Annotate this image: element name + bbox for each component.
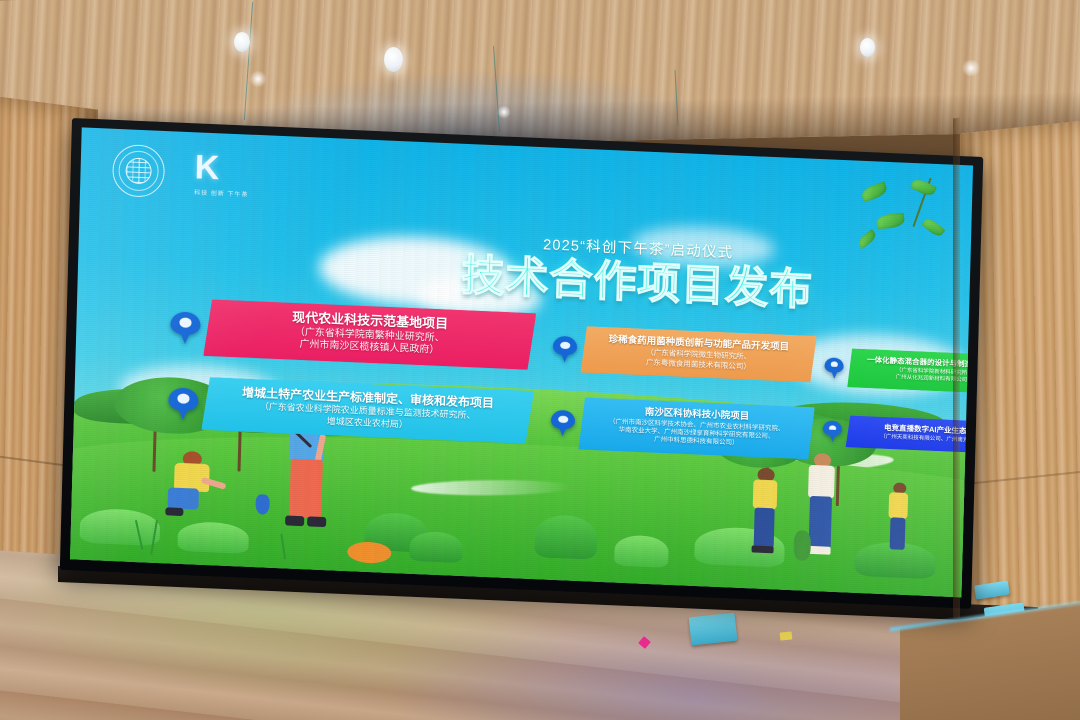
project-ribbon[interactable]: 现代农业科技示范基地项目（广东省科学院南繁种业研究所、广州市南沙区榄核镇人民政府… [203, 299, 536, 370]
screen-bezel: ✦ ✦ ✦ [60, 118, 984, 609]
led-display-surface: ✦ ✦ ✦ [70, 127, 973, 597]
project-card[interactable]: 南沙区科协科技小院项目（广州市南沙区科学技术协会、广州市农业农村科学研究院、华南… [550, 396, 814, 459]
ceiling-downlight-3 [860, 38, 875, 57]
floor-marker-card-1 [689, 613, 738, 646]
map-pin-icon [551, 410, 576, 435]
map-pin-icon [825, 357, 844, 377]
project-ribbon[interactable]: 珍稀食药用菌种质创新与功能产品开发项目（广东省科学院微生物研究所、广东粤微食用菌… [581, 326, 817, 382]
led-video-wall[interactable]: ✦ ✦ ✦ [60, 118, 984, 609]
project-card[interactable]: 现代农业科技示范基地项目（广东省科学院南繁种业研究所、广州市南沙区榄核镇人民政府… [169, 298, 536, 371]
ceiling-downlight-2 [384, 47, 403, 72]
project-ribbon[interactable]: 南沙区科协科技小院项目（广州市南沙区科学技术协会、广州市农业农村科学研究院、华南… [578, 397, 814, 459]
map-pin-icon [553, 336, 578, 361]
project-card[interactable]: 一体化静态混合器的设计与制造技术项目（广东省科学院新材料研究所、广州从化兆润新材… [824, 347, 973, 394]
ceiling-downlight-glow-3 [960, 60, 982, 76]
project-card-group: 现代农业科技示范基地项目（广东省科学院南繁种业研究所、广州市南沙区榄核镇人民政府… [70, 127, 973, 597]
room-scene: ✦ ✦ ✦ [0, 0, 1080, 720]
project-ribbon[interactable]: 增城土特产农业生产标准制定、审核和发布项目（广东省农业科学院农业质量标准与监测技… [201, 377, 534, 444]
project-card[interactable]: 增城土特产农业生产标准制定、审核和发布项目（广东省农业科学院农业质量标准与监测技… [167, 375, 534, 444]
map-pin-icon [168, 387, 199, 418]
right-wall-corner [953, 118, 960, 619]
ceiling-downlight-1 [234, 32, 250, 52]
floor-marker-dot-yellow [780, 631, 793, 640]
map-pin-icon [170, 311, 201, 342]
map-pin-icon [823, 421, 842, 441]
ceiling-downlight-glow-2 [497, 105, 511, 119]
project-card[interactable]: 珍稀食药用菌种质创新与功能产品开发项目（广东省科学院微生物研究所、广东粤微食用菌… [553, 325, 817, 383]
project-card[interactable]: 电竞直播数字AI产业生态项目（广州天奕科技有限公司、广州南方学院） [823, 414, 973, 454]
ceiling-downlight-glow-1 [249, 70, 267, 88]
